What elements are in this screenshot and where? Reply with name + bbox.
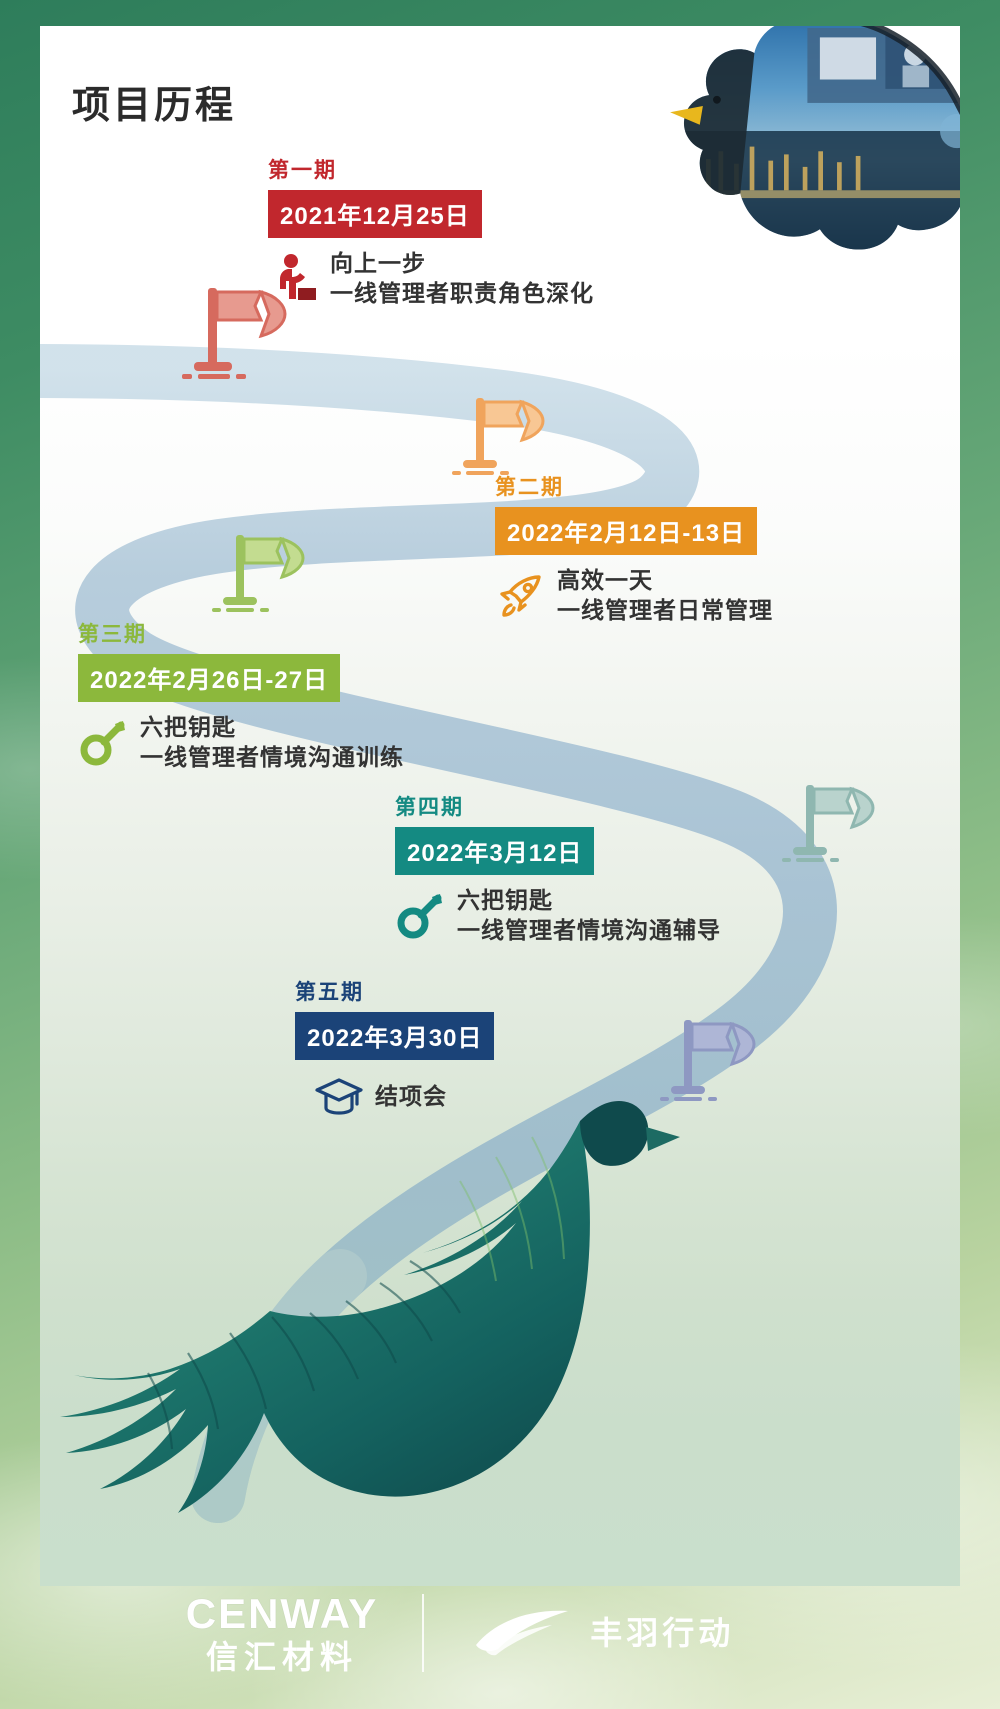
logo-divider (422, 1594, 424, 1672)
phase-date-3: 2022年2月26日-27日 (78, 654, 340, 702)
eagle-photo-cutout (667, 26, 960, 264)
logo-fengyu-cn: 丰羽行动 (590, 1617, 734, 1649)
rocket-icon (495, 569, 547, 621)
phase-block-5: 第五期 2022年3月30日 结项会 (295, 976, 494, 1122)
phase-text-2: 高效一天 一线管理者日常管理 (557, 565, 773, 626)
phase-label-1: 第一期 (268, 154, 594, 184)
phase-block-4: 第四期 2022年3月12日 六把钥匙 一线管理者情境沟通辅导 (395, 791, 721, 946)
phase-text-4-line2: 一线管理者情境沟通辅导 (457, 917, 721, 943)
flying-eagle-illustration (60, 1101, 680, 1513)
phase-date-5: 2022年3月30日 (295, 1012, 494, 1060)
logo-cenway-en: CENWAY (186, 1593, 379, 1635)
phase-text-3-line2: 一线管理者情境沟通训练 (140, 744, 404, 770)
graduation-cap-icon (313, 1070, 365, 1122)
phase-block-1: 第一期 2021年12月25日 向上一步 一线管理者职责角色深化 (268, 154, 594, 309)
flag-marker-4 (782, 785, 873, 862)
phase-text-4-line1: 六把钥匙 (457, 887, 553, 913)
phase-text-5-line1: 结项会 (375, 1083, 447, 1109)
page-title: 项目历程 (72, 74, 236, 129)
logo-cenway-cn: 信汇材料 (206, 1641, 358, 1673)
phase-label-4: 第四期 (395, 791, 721, 821)
phase-text-1-line2: 一线管理者职责角色深化 (330, 280, 594, 306)
logo-fengyu: 丰羽行动 (468, 1605, 734, 1662)
phase-date-4: 2022年3月12日 (395, 827, 594, 875)
logo-cenway: CENWAY 信汇材料 (186, 1593, 379, 1673)
feather-swoosh-icon (468, 1605, 576, 1662)
phase-block-2: 第二期 2022年2月12日-13日 高效一天 一线管理者日常管理 (495, 471, 773, 626)
phase-label-2: 第二期 (495, 471, 773, 501)
phase-label-5: 第五期 (295, 976, 494, 1006)
phase-date-1: 2021年12月25日 (268, 190, 482, 238)
phase-text-2-line2: 一线管理者日常管理 (557, 597, 773, 623)
phase-date-2: 2022年2月12日-13日 (495, 507, 757, 555)
phase-text-1: 向上一步 一线管理者职责角色深化 (330, 248, 594, 309)
poster-card: 项目历程 第一期 2021年12月25日 向上一步 一线管理者职责角色深化 (40, 26, 960, 1586)
phase-label-3: 第三期 (78, 618, 404, 648)
phase-text-4: 六把钥匙 一线管理者情境沟通辅导 (457, 885, 721, 946)
key-icon (78, 716, 130, 768)
phase-text-5: 结项会 (375, 1081, 447, 1111)
stair-climb-icon (268, 252, 320, 304)
phase-text-3-line1: 六把钥匙 (140, 714, 236, 740)
phase-text-1-line1: 向上一步 (330, 250, 426, 276)
phase-text-3: 六把钥匙 一线管理者情境沟通训练 (140, 712, 404, 773)
poster-root: 项目历程 第一期 2021年12月25日 向上一步 一线管理者职责角色深化 (0, 0, 1000, 1709)
key-icon (395, 889, 447, 941)
footer-logos: CENWAY 信汇材料 丰羽行动 (0, 1593, 920, 1673)
phase-block-3: 第三期 2022年2月26日-27日 六把钥匙 一线管理者情境沟通训练 (78, 618, 404, 773)
phase-text-2-line1: 高效一天 (557, 567, 653, 593)
